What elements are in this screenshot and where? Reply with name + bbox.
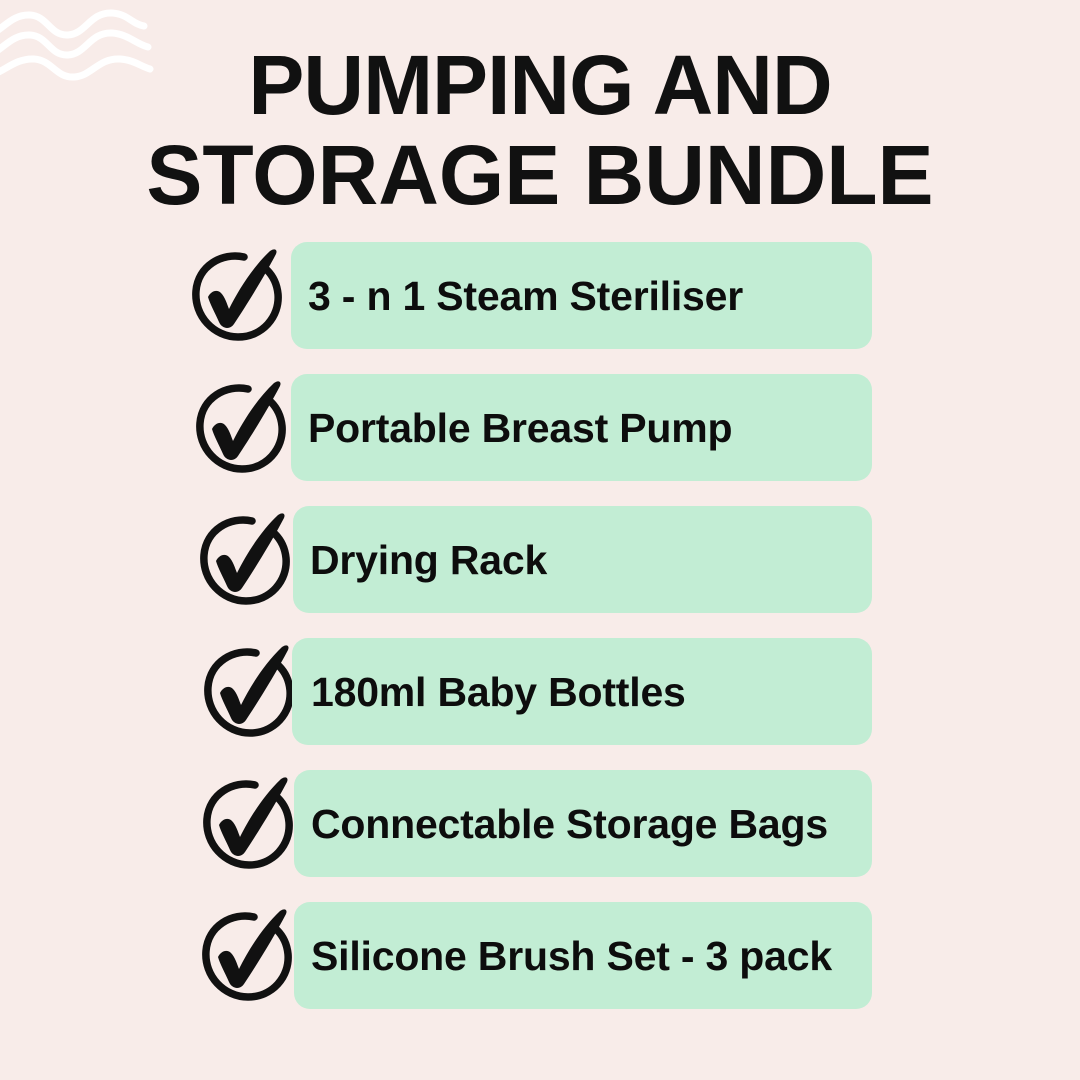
circled-checkmark-icon: [190, 376, 294, 480]
item-pill[interactable]: Portable Breast Pump: [291, 374, 872, 481]
list-item: 3 - n 1 Steam Steriliser: [0, 242, 1080, 349]
item-pill[interactable]: 3 - n 1 Steam Steriliser: [291, 242, 872, 349]
item-label: 180ml Baby Bottles: [311, 670, 686, 714]
item-pill[interactable]: Silicone Brush Set - 3 pack: [294, 902, 872, 1009]
item-pill[interactable]: Drying Rack: [293, 506, 872, 613]
promo-graphic: PUMPING AND STORAGE BUNDLE 3 - n 1 Steam…: [0, 0, 1080, 1080]
title-line-1: PUMPING AND: [0, 40, 1080, 130]
list-item: Connectable Storage Bags: [0, 770, 1080, 877]
circled-checkmark-icon: [196, 904, 300, 1008]
page-title: PUMPING AND STORAGE BUNDLE: [0, 40, 1080, 220]
circled-checkmark-icon: [197, 772, 301, 876]
list-item: Silicone Brush Set - 3 pack: [0, 902, 1080, 1009]
item-label: Silicone Brush Set - 3 pack: [311, 934, 832, 978]
bundle-item-list: 3 - n 1 Steam Steriliser Portable Breast…: [0, 242, 1080, 1009]
list-item: Drying Rack: [0, 506, 1080, 613]
item-label: Drying Rack: [310, 538, 547, 582]
list-item: Portable Breast Pump: [0, 374, 1080, 481]
circled-checkmark-icon: [198, 640, 302, 744]
circled-checkmark-icon: [186, 244, 290, 348]
item-label: Portable Breast Pump: [308, 406, 732, 450]
circled-checkmark-icon: [194, 508, 298, 612]
title-line-2: STORAGE BUNDLE: [0, 130, 1080, 220]
item-label: 3 - n 1 Steam Steriliser: [308, 274, 743, 318]
item-label: Connectable Storage Bags: [311, 802, 828, 846]
list-item: 180ml Baby Bottles: [0, 638, 1080, 745]
item-pill[interactable]: 180ml Baby Bottles: [292, 638, 872, 745]
item-pill[interactable]: Connectable Storage Bags: [294, 770, 872, 877]
